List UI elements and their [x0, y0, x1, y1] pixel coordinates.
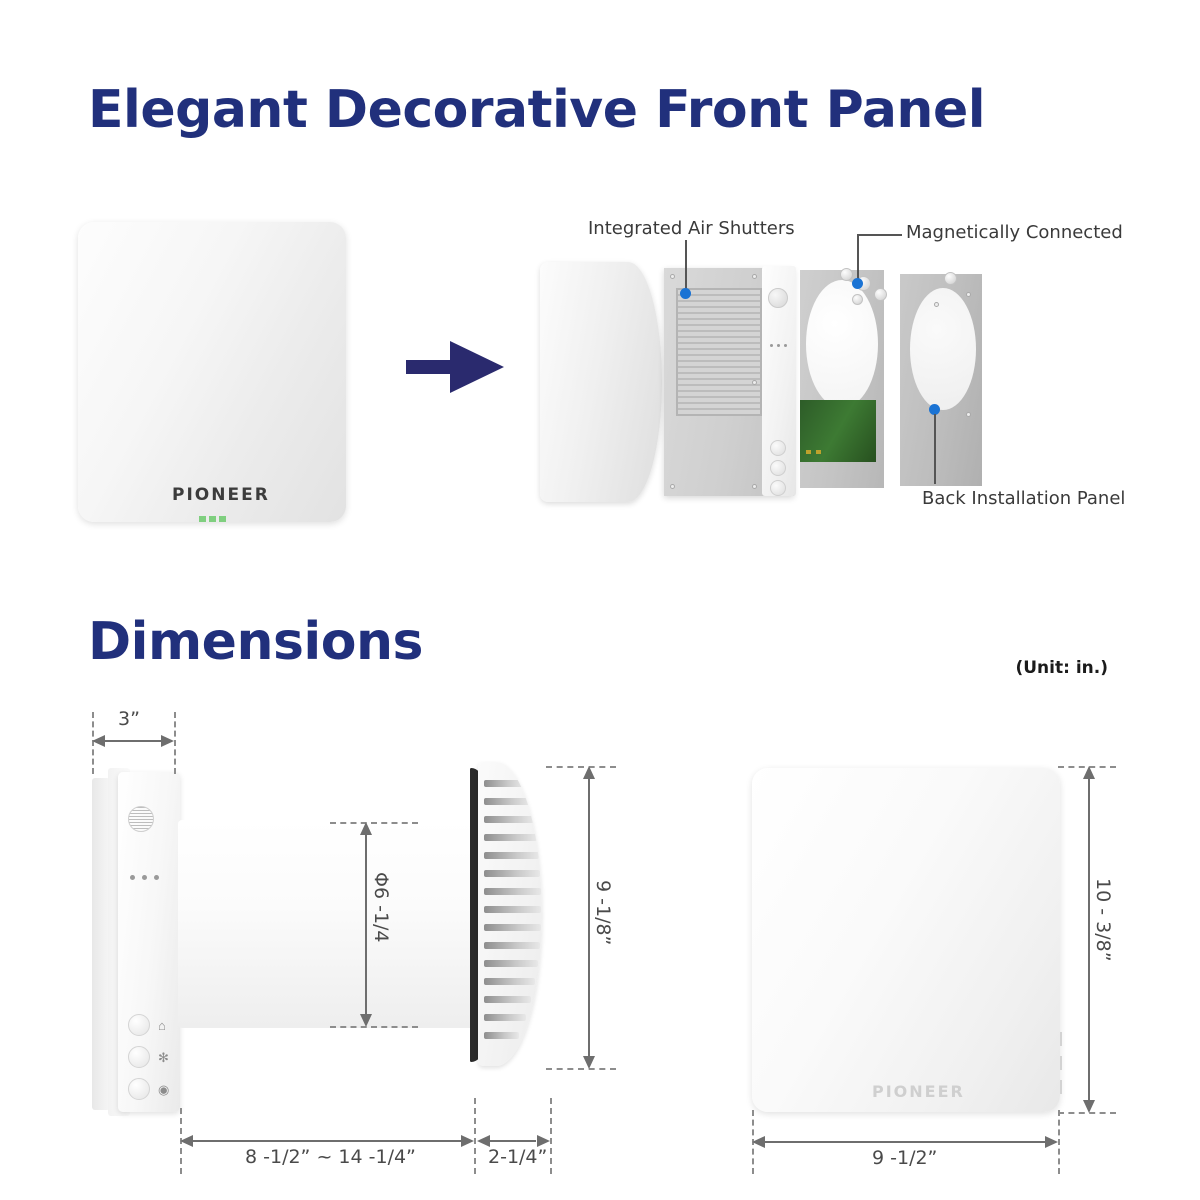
filter-icon: ⌂: [158, 1019, 166, 1032]
dimension-arrow: [1083, 1100, 1095, 1113]
status-dot: [777, 344, 780, 347]
callout-leader-line: [685, 240, 687, 292]
pcb-connector: [806, 450, 811, 454]
callout-leader-line: [858, 234, 902, 236]
dimension-arrow: [180, 1135, 193, 1147]
dimension-duct-diameter: Φ6 -1/4: [370, 872, 392, 943]
screw-hole: [966, 412, 971, 417]
integrated-air-shutters-part: [676, 288, 762, 416]
callout-label-magnetically-connected: Magnetically Connected: [906, 222, 1123, 243]
extension-line: [330, 1026, 418, 1028]
dimension-line: [1088, 770, 1090, 1108]
dimension-front-height: 10 - 3/8”: [1092, 878, 1114, 962]
panel-edge-tick: [1060, 1056, 1062, 1070]
extension-line: [330, 822, 418, 824]
callout-marker-dot: [852, 278, 863, 289]
extension-line: [1058, 1110, 1060, 1174]
circuit-board: [800, 400, 876, 462]
side-view-button-power: [128, 1078, 150, 1100]
screw-hole: [752, 380, 757, 385]
pcb-connector: [816, 450, 821, 454]
extension-line: [546, 766, 616, 768]
back-panel-opening: [910, 288, 976, 410]
dimension-arrow: [360, 1014, 372, 1027]
screw-hole: [966, 292, 971, 297]
dimension-side-height: 9 -1/8”: [592, 880, 614, 945]
side-view-duct: [178, 820, 474, 1028]
sensor-grille-icon: [768, 288, 788, 308]
led-indicator: [209, 516, 216, 522]
brand-logo: PIONEER: [172, 485, 270, 505]
extension-line: [550, 1098, 552, 1174]
panel-edge-tick: [1060, 1032, 1062, 1046]
front-view-brand-logo: PIONEER: [872, 1082, 965, 1101]
dimension-arrow: [461, 1135, 474, 1147]
dimension-depth-front: 3”: [118, 708, 140, 730]
extension-line: [546, 1068, 616, 1070]
led-indicator-group: [199, 516, 226, 522]
side-view-button-fan: [128, 1046, 150, 1068]
screw-hole: [670, 274, 675, 279]
extension-line: [174, 712, 176, 774]
dimension-arrow: [92, 735, 105, 747]
callout-leader-line: [934, 414, 936, 484]
product-front-panel-image: [78, 222, 346, 522]
status-dot: [770, 344, 773, 347]
control-button: [770, 440, 786, 456]
dimension-arrow: [583, 766, 595, 779]
magnet-pin: [852, 294, 863, 305]
side-view-button-filter: [128, 1014, 150, 1036]
page-title-front-panel: Elegant Decorative Front Panel: [88, 80, 985, 140]
page-title-dimensions: Dimensions: [88, 612, 423, 672]
fan-icon: ✻: [158, 1051, 169, 1064]
screw-hole: [752, 484, 757, 489]
magnet-pin: [874, 288, 887, 301]
callout-label-back-installation-panel: Back Installation Panel: [922, 488, 1125, 509]
dimension-front-width: 9 -1/2”: [872, 1147, 937, 1169]
screw-hole: [670, 484, 675, 489]
dimension-line: [756, 1141, 1054, 1143]
duct-opening: [806, 280, 878, 408]
right-arrow-icon: [404, 336, 508, 398]
control-button: [770, 480, 786, 496]
product-spec-page: Elegant Decorative Front Panel PIONEER: [0, 0, 1200, 1200]
panel-edge-tick: [1060, 1080, 1062, 1094]
control-button: [770, 460, 786, 476]
magnet-pin: [944, 272, 957, 285]
dimension-arrow: [583, 1056, 595, 1069]
dimension-duct-length: 8 -1/2” ~ 14 -1/4”: [245, 1146, 416, 1168]
decorative-front-cover: [540, 262, 662, 502]
dimension-line: [365, 826, 367, 1022]
status-dot: [154, 875, 159, 880]
dimension-cap-depth: 2-1/4”: [488, 1146, 547, 1168]
status-dots: [770, 344, 787, 347]
led-indicator: [219, 516, 226, 522]
led-indicator: [199, 516, 206, 522]
magnet-pin: [840, 268, 853, 281]
callout-marker-dot: [680, 288, 691, 299]
dimension-arrow: [1083, 766, 1095, 779]
status-dot: [130, 875, 135, 880]
side-view-status-dots: [130, 875, 159, 880]
callout-leader-line: [857, 234, 859, 282]
status-dot: [142, 875, 147, 880]
dimension-arrow: [752, 1136, 765, 1148]
front-view-panel: [752, 768, 1060, 1112]
dimension-line: [95, 740, 171, 742]
dimension-arrow: [161, 735, 174, 747]
dimension-line: [490, 1140, 536, 1142]
dimension-arrow: [1045, 1136, 1058, 1148]
status-dot: [784, 344, 787, 347]
unit-note: (Unit: in.): [1015, 658, 1108, 678]
dimension-arrow: [360, 822, 372, 835]
callout-label-integrated-air-shutters: Integrated Air Shutters: [588, 218, 795, 239]
extension-line: [474, 1098, 476, 1174]
dimension-line: [588, 770, 590, 1064]
dimension-line: [184, 1140, 470, 1142]
side-view-exterior-vent-cap: [478, 762, 542, 1066]
screw-hole: [752, 274, 757, 279]
screw-hole: [934, 302, 939, 307]
power-icon: ◉: [158, 1083, 169, 1096]
side-view-sensor-grille-icon: [128, 806, 154, 832]
